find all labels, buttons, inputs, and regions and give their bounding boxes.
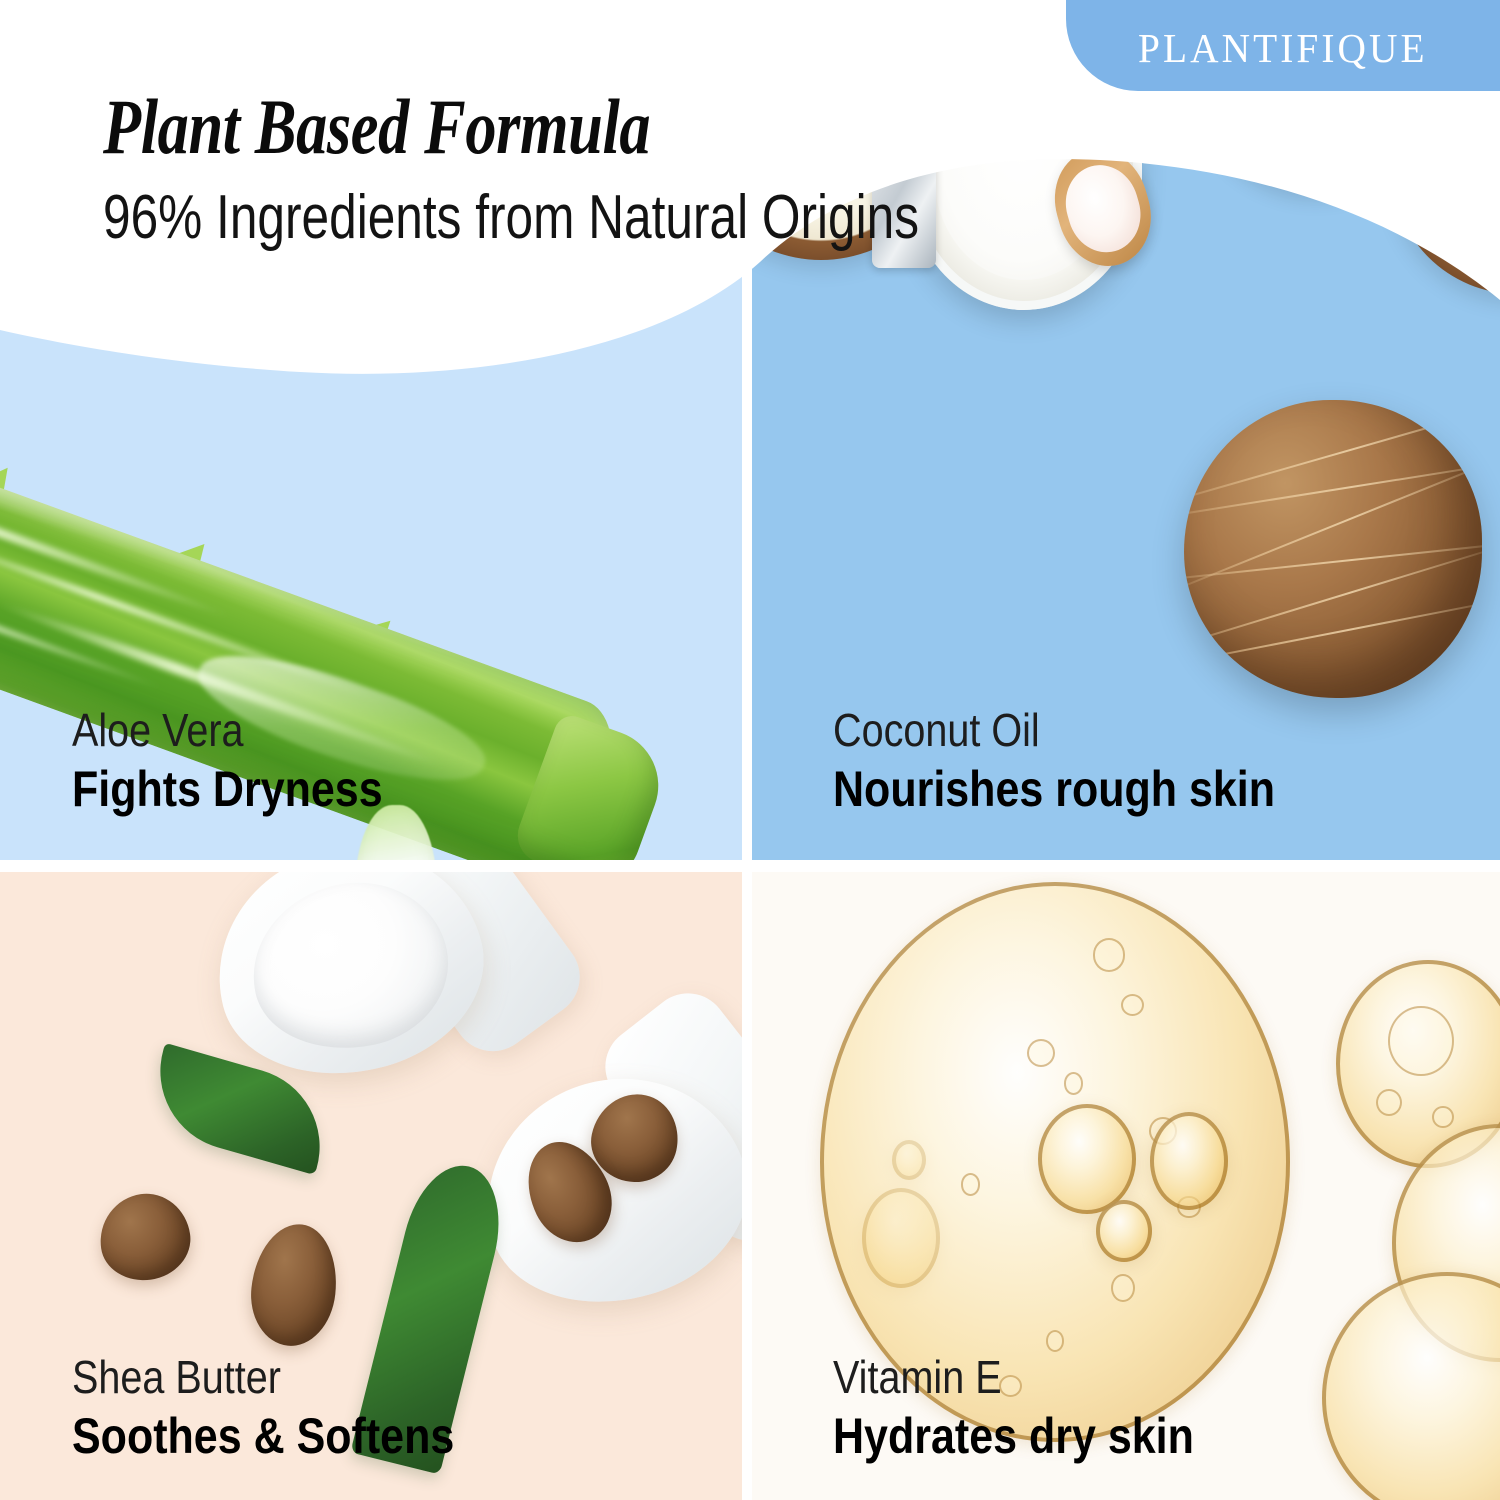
ingredient-name: Vitamin E [833,1352,1194,1404]
coconut-fiber [1184,543,1482,653]
oil-microbubble [1093,938,1126,972]
oil-microbubble [1432,1106,1454,1129]
brand-name: PLANTIFIQUE [1138,24,1428,72]
coconut-fiber [1184,461,1482,521]
ingredient-benefit: Soothes & Softens [72,1408,454,1465]
oil-bubble-inner [1038,1104,1136,1214]
coconut-fiber [1184,597,1482,669]
oil-bubble-inner [1150,1112,1228,1210]
ingredient-benefit: Nourishes rough skin [833,761,1275,818]
coconut-fiber [1184,542,1482,583]
oil-microbubble [1046,1330,1065,1352]
ingredient-name: Shea Butter [72,1352,454,1404]
oil-bubble-inner [1096,1200,1152,1262]
aloe-vera-photo [0,300,742,760]
coconut-oil-scoop [1056,156,1149,260]
coconut-fiber [1184,456,1482,596]
ingredient-name: Aloe Vera [72,705,383,757]
oil-microbubble [961,1173,980,1195]
caption-coconut-oil: Coconut Oil Nourishes rough skin [833,705,1347,818]
shea-nut [94,1188,195,1286]
oil-microbubble [1027,1039,1055,1067]
whole-coconut [1184,400,1482,698]
caption-shea-butter: Shea Butter Soothes & Softens [72,1352,516,1465]
ingredient-benefit: Fights Dryness [72,761,383,818]
product-infographic: Plant Based Formula 96% Ingredients from… [0,0,1500,1500]
oil-microbubble [1064,1072,1083,1094]
caption-vitamin-e: Vitamin E Hydrates dry skin [833,1352,1253,1465]
ingredient-name: Coconut Oil [833,705,1275,757]
page-title: Plant Based Formula [103,88,650,166]
caption-aloe-vera: Aloe Vera Fights Dryness [72,705,433,818]
oil-microbubble [1111,1274,1135,1302]
oil-microbubble [1388,1006,1454,1077]
ingredient-benefit: Hydrates dry skin [833,1408,1194,1465]
page-subtitle: 96% Ingredients from Natural Origins [103,185,919,250]
oil-bubble [1322,1272,1500,1500]
oil-microbubble [1376,1089,1402,1116]
shea-nut [246,1220,342,1350]
oil-microbubble [1121,994,1145,1016]
brand-logo-badge[interactable]: PLANTIFIQUE [1066,0,1500,91]
